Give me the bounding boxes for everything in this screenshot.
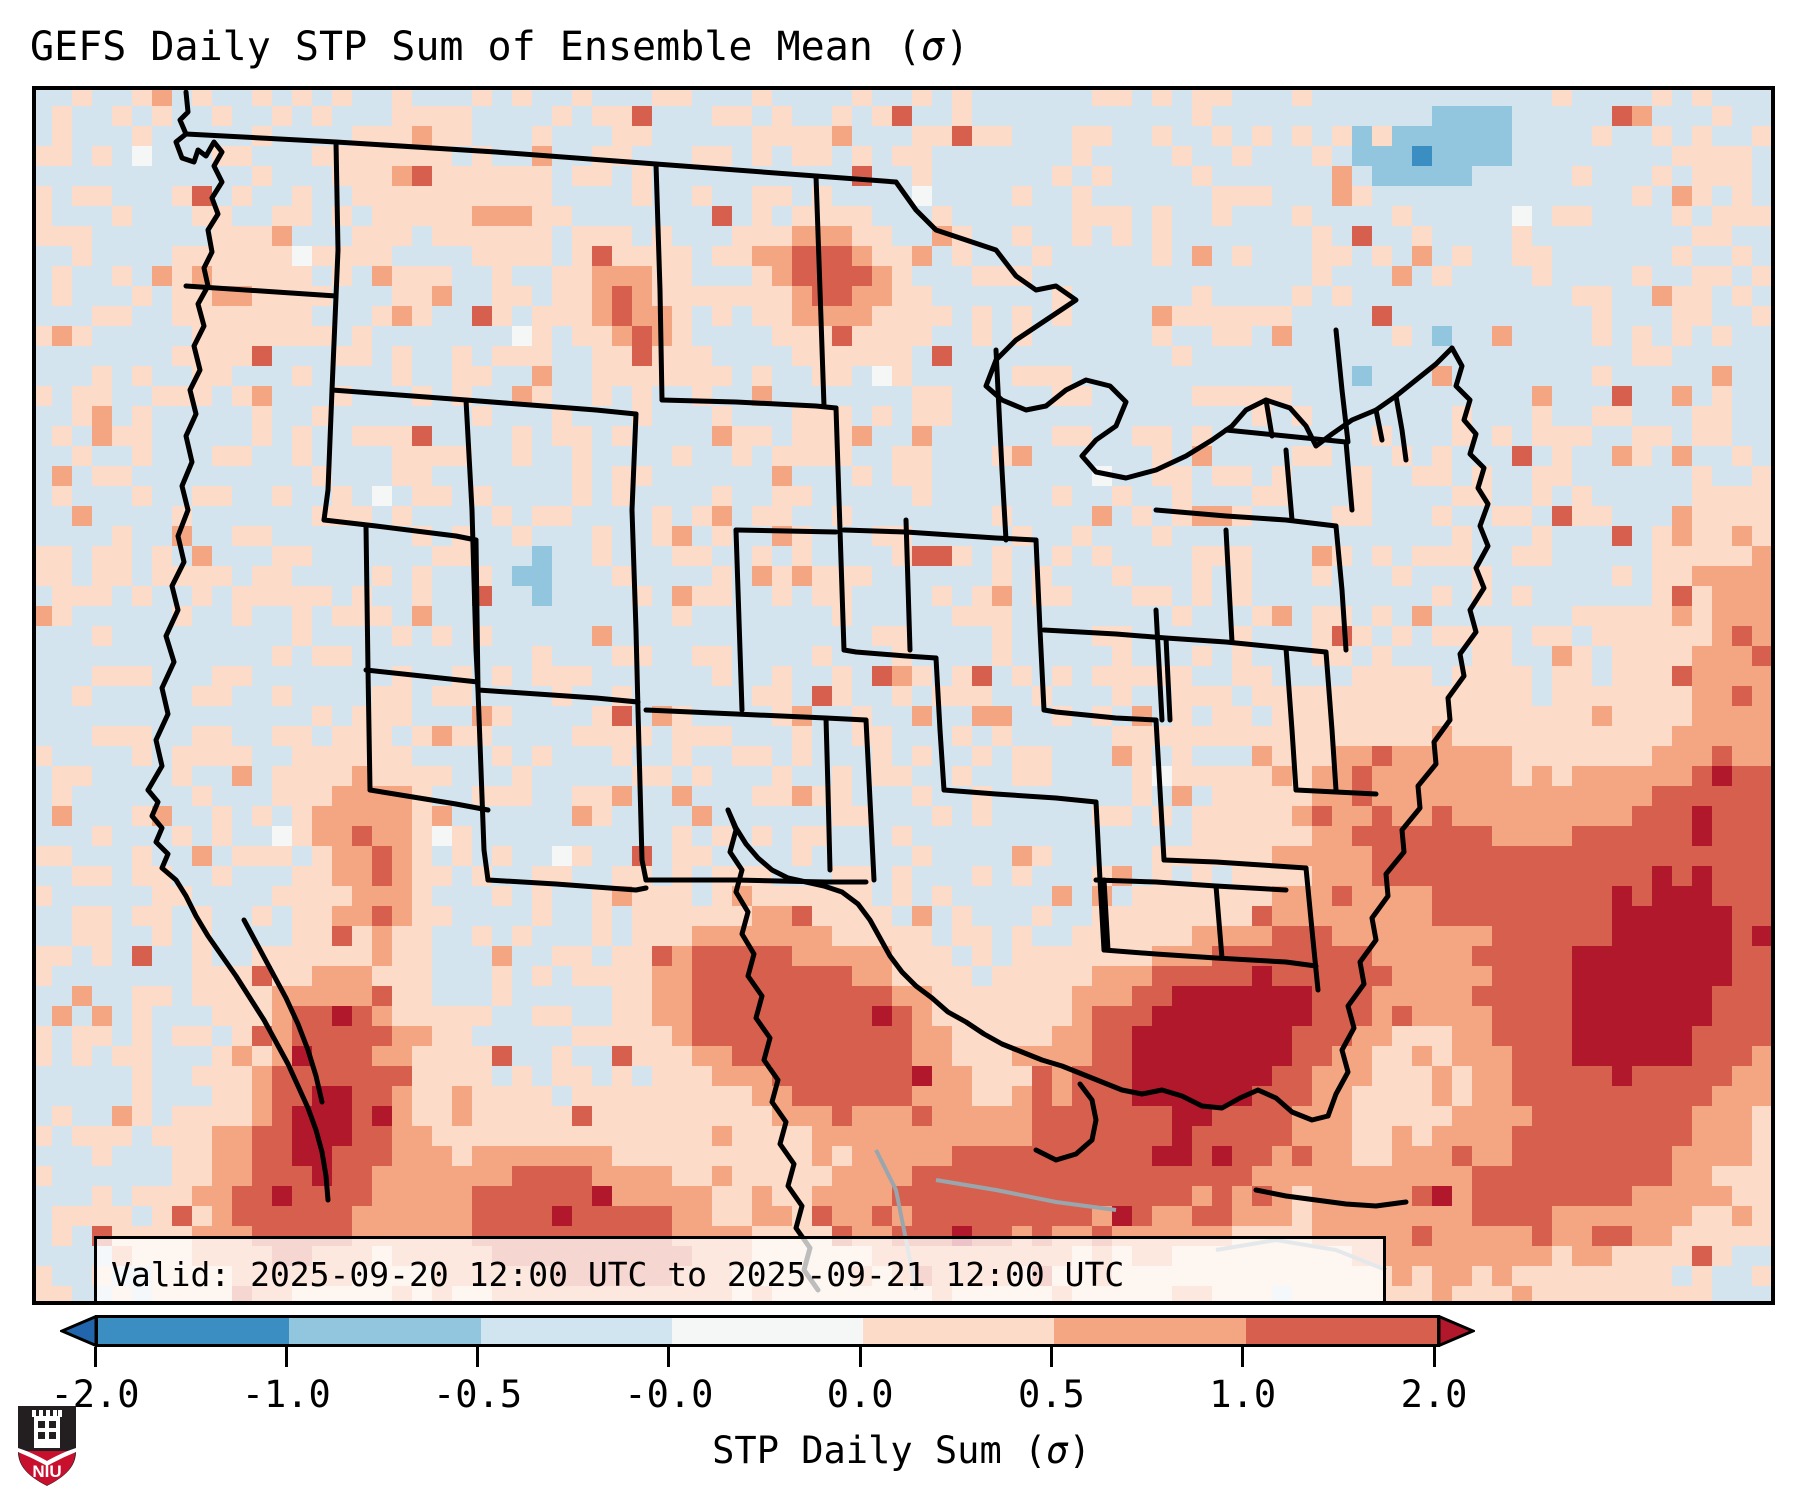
geo-path bbox=[866, 720, 874, 880]
geo-path bbox=[148, 790, 328, 1200]
geo-path bbox=[936, 658, 944, 790]
colorbar-segment-0 bbox=[98, 1318, 289, 1344]
geo-path bbox=[1306, 868, 1318, 990]
colorbar-tick-label: 2.0 bbox=[1401, 1368, 1468, 1422]
geo-path bbox=[638, 710, 646, 880]
geo-path bbox=[1326, 652, 1336, 790]
colorbar-segment-1 bbox=[289, 1318, 480, 1344]
colorbar-tick-label: 0.5 bbox=[1018, 1368, 1085, 1422]
niu-logo-text: NIU bbox=[32, 1462, 61, 1481]
colorbar-tick bbox=[476, 1347, 479, 1367]
geo-path bbox=[646, 710, 866, 720]
geography-overlay bbox=[36, 90, 1771, 1301]
geo-path bbox=[736, 530, 836, 532]
valid-run-annotation-box: Valid: 2025-09-20 12:00 UTC to 2025-09-2… bbox=[94, 1236, 1386, 1305]
geo-path bbox=[1286, 648, 1296, 790]
annotation-run-line: Run: 2025-09-03 00:00 UTC bbox=[111, 1302, 1369, 1305]
geo-path bbox=[1036, 1084, 1096, 1160]
colorbar-tick-label: 1.0 bbox=[1209, 1368, 1276, 1422]
colorbar-ticks bbox=[60, 1347, 1475, 1369]
colorbar-tick bbox=[1241, 1347, 1244, 1367]
figure-canvas: GEFS Daily STP Sum of Ensemble Mean (σ) … bbox=[0, 0, 1803, 1506]
geo-path bbox=[366, 670, 478, 682]
geo-path bbox=[186, 286, 336, 296]
colorbar-tick bbox=[285, 1347, 288, 1367]
map-plot-area bbox=[36, 90, 1771, 1301]
geo-path bbox=[1166, 638, 1170, 720]
geo-path bbox=[332, 390, 636, 414]
colorbar-tick bbox=[94, 1347, 97, 1367]
colorbar-tick-label: -0.5 bbox=[433, 1368, 522, 1422]
geo-path bbox=[476, 540, 488, 880]
geo-path bbox=[662, 400, 836, 408]
geo-path bbox=[366, 526, 370, 790]
geo-path bbox=[186, 134, 896, 182]
geo-path bbox=[816, 176, 824, 406]
geo-path-faint bbox=[936, 1180, 1116, 1210]
geo-path bbox=[1296, 790, 1376, 794]
geo-path bbox=[1096, 802, 1104, 950]
colorbar[interactable] bbox=[60, 1315, 1475, 1347]
geo-path bbox=[1044, 630, 1166, 638]
geo-path bbox=[826, 718, 830, 870]
map-axes: Valid: 2025-09-20 12:00 UTC to 2025-09-2… bbox=[32, 86, 1775, 1305]
geo-path bbox=[1156, 720, 1164, 860]
colorbar-segment-6 bbox=[1246, 1318, 1437, 1344]
geo-path bbox=[1166, 638, 1326, 652]
colorbar-tick bbox=[1433, 1347, 1436, 1367]
geo-path bbox=[1266, 400, 1272, 436]
geo-path bbox=[632, 414, 638, 710]
geo-path bbox=[646, 880, 866, 882]
geo-path bbox=[1396, 396, 1406, 460]
colorbar-segment-5 bbox=[1054, 1318, 1245, 1344]
colorbar-tick-label: -0.0 bbox=[624, 1368, 713, 1422]
geo-path bbox=[1156, 510, 1336, 526]
geo-path bbox=[1164, 860, 1306, 868]
geo-path bbox=[1286, 450, 1292, 520]
geo-path bbox=[944, 790, 1096, 802]
geo-path bbox=[1328, 348, 1488, 1116]
geo-path bbox=[906, 520, 910, 650]
colorbar-gradient bbox=[95, 1315, 1440, 1347]
colorbar-tick bbox=[667, 1347, 670, 1367]
colorbar-under-arrow-icon bbox=[60, 1315, 96, 1347]
geo-path bbox=[736, 530, 742, 710]
geo-path bbox=[728, 810, 1328, 1120]
colorbar-segment-3 bbox=[672, 1318, 863, 1344]
geo-path bbox=[370, 790, 488, 810]
geo-path bbox=[478, 690, 638, 702]
geo-path bbox=[324, 520, 476, 540]
colorbar-tick-label: -1.0 bbox=[242, 1368, 331, 1422]
geo-path bbox=[1256, 1190, 1406, 1206]
geo-path bbox=[1104, 950, 1316, 966]
geo-path bbox=[1226, 530, 1232, 642]
geo-path bbox=[844, 650, 936, 658]
colorbar-axis-label: STP Daily Sum (σ) bbox=[0, 1424, 1803, 1478]
annotation-valid-line: Valid: 2025-09-20 12:00 UTC to 2025-09-2… bbox=[111, 1247, 1369, 1302]
geo-path bbox=[1216, 886, 1222, 958]
geo-path bbox=[1044, 710, 1156, 720]
geo-path bbox=[996, 350, 1006, 540]
geo-path bbox=[1156, 610, 1162, 720]
colorbar-tick bbox=[1050, 1347, 1053, 1367]
geo-path bbox=[1376, 410, 1382, 440]
colorbar-over-arrow-icon bbox=[1439, 1315, 1475, 1347]
geo-path bbox=[1346, 442, 1352, 510]
geo-path bbox=[324, 142, 338, 520]
colorbar-segment-2 bbox=[481, 1318, 672, 1344]
colorbar-segment-4 bbox=[863, 1318, 1054, 1344]
colorbar-tick bbox=[859, 1347, 862, 1367]
niu-shield-icon: NIU bbox=[16, 1404, 78, 1488]
geo-path bbox=[1096, 880, 1286, 890]
geo-path bbox=[1036, 540, 1044, 710]
colorbar-tick-label: 0.0 bbox=[827, 1368, 894, 1422]
page-title: GEFS Daily STP Sum of Ensemble Mean (σ) bbox=[30, 18, 1630, 76]
geo-path bbox=[148, 92, 222, 790]
geo-path bbox=[656, 164, 662, 400]
niu-logo: NIU bbox=[16, 1404, 78, 1488]
geo-path bbox=[488, 880, 646, 890]
geo-path bbox=[1336, 526, 1346, 650]
colorbar-tick-labels: -2.0-1.0-0.5-0.00.00.51.02.0 bbox=[0, 1368, 1803, 1422]
geo-path bbox=[896, 182, 1452, 478]
